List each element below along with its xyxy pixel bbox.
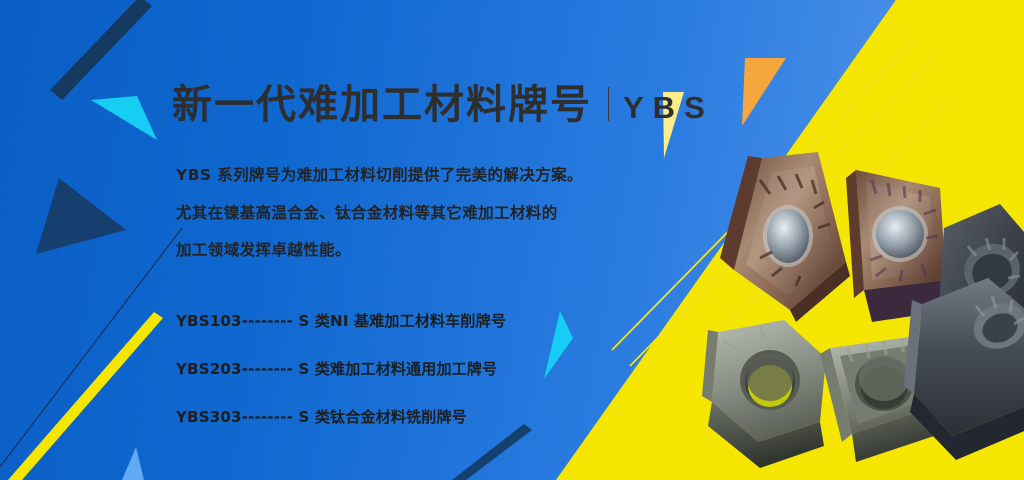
grade-item-ybs303: YBS303-------- S 类钛合金材料铣削牌号	[176, 406, 506, 427]
round-milling-insert-gray	[702, 320, 826, 468]
product-banner: 新一代难加工材料牌号 YBS YBS 系列牌号为难加工材料切削提供了完美的解决方…	[0, 0, 1024, 480]
description-line-1: YBS 系列牌号为难加工材料切削提供了完美的解决方案。	[176, 168, 596, 184]
navy-hairline-left	[0, 228, 182, 480]
trigon-turning-insert-bronze	[720, 152, 850, 322]
banner-title-english: YBS	[623, 90, 714, 126]
title-divider	[608, 87, 609, 121]
navy-diagonal-bar-top-left	[50, 0, 152, 100]
description-line-3: 加工领域发挥卓越性能。	[176, 243, 596, 259]
light-blue-triangle-bottom	[122, 447, 144, 480]
product-inserts-group	[700, 150, 1024, 480]
orange-triangle	[742, 58, 786, 126]
banner-title: 新一代难加工材料牌号 YBS	[172, 72, 714, 130]
grade-item-ybs203: YBS203-------- S 类难加工材料通用加工牌号	[176, 358, 506, 379]
cyan-triangle-middle	[544, 311, 573, 379]
banner-title-chinese: 新一代难加工材料牌号	[172, 72, 592, 130]
banner-description: YBS 系列牌号为难加工材料切削提供了完美的解决方案。 尤其在镍基高温合金、钛合…	[176, 168, 596, 281]
grade-item-ybs103: YBS103-------- S 类NI 基难加工材料车削牌号	[176, 310, 506, 331]
navy-triangle-left	[36, 178, 126, 254]
yellow-diagonal-bar-lower-left	[8, 312, 163, 480]
description-line-2: 尤其在镍基高温合金、钛合金材料等其它难加工材料的	[176, 206, 596, 222]
cyan-triangle-upper-left	[91, 96, 157, 140]
grade-list: YBS103-------- S 类NI 基难加工材料车削牌号 YBS203--…	[176, 310, 506, 454]
